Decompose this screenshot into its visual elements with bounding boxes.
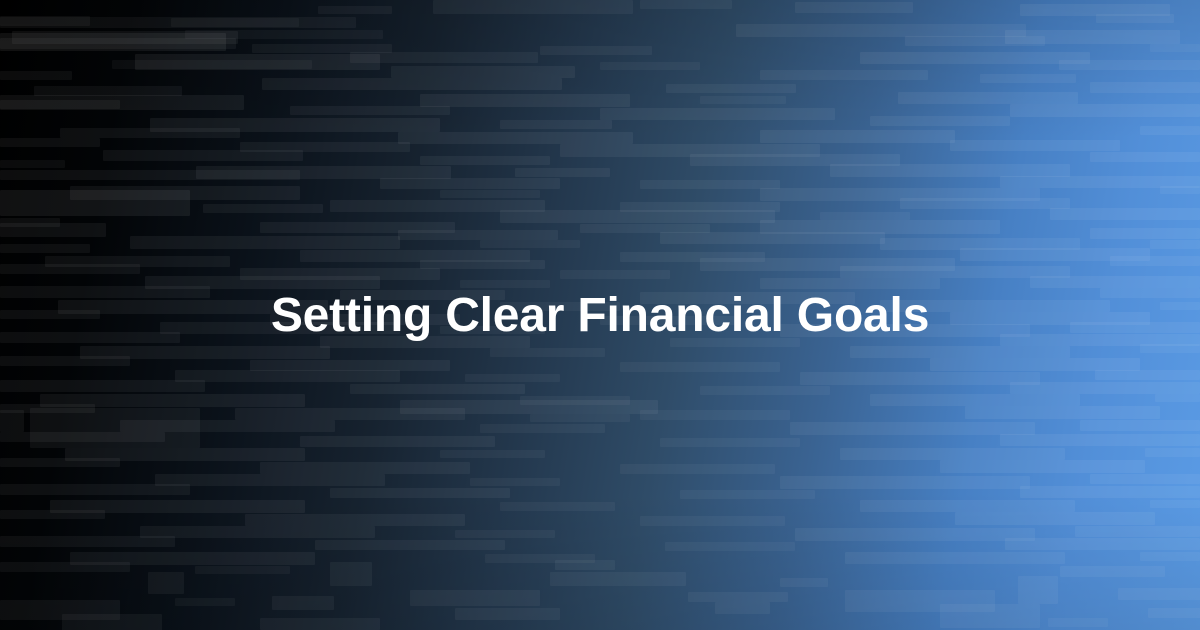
page-title: Setting Clear Financial Goals: [270, 287, 930, 344]
card-content: Setting Clear Financial Goals: [0, 0, 1200, 630]
social-share-card: Setting Clear Financial Goals: [0, 0, 1200, 630]
